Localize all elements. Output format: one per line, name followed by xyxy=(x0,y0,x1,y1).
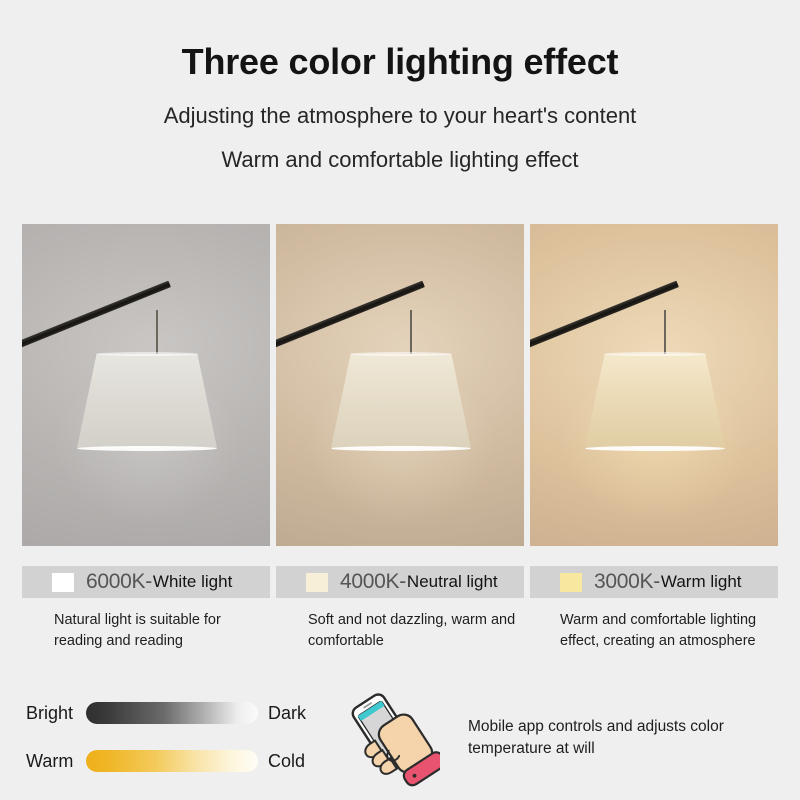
mode-caption: Warm and comfortable lighting effect, cr… xyxy=(530,610,778,651)
lighting-mode-card: 6000K- White light Natural light is suit… xyxy=(22,224,270,651)
lamp-rod xyxy=(664,310,666,358)
color-swatch xyxy=(306,573,328,592)
color-swatch xyxy=(52,573,74,592)
lamp-shade-top-rim xyxy=(604,352,706,356)
lamp-arm xyxy=(530,281,679,351)
temperature-left-label: Warm xyxy=(26,751,86,772)
lamp-shade xyxy=(585,354,725,448)
color-temperature-label-bar: 3000K- Warm light xyxy=(530,566,778,598)
lamp-shade-top-rim xyxy=(350,352,452,356)
lighting-mode-card: 3000K- Warm light Warm and comfortable l… xyxy=(530,224,778,651)
mode-caption: Natural light is suitable for reading an… xyxy=(22,610,270,651)
color-swatch xyxy=(560,573,582,592)
light-kind-label: Neutral light xyxy=(407,572,498,592)
page-subtitle-primary: Adjusting the atmosphere to your heart's… xyxy=(0,104,800,128)
mode-caption: Soft and not dazzling, warm and comforta… xyxy=(276,610,524,651)
lighting-mode-card: 4000K- Neutral light Soft and not dazzli… xyxy=(276,224,524,651)
lamp-shade xyxy=(77,354,217,448)
brightness-right-label: Dark xyxy=(268,703,306,724)
brightness-and-temperature-scales: Bright Dark Warm Cold xyxy=(26,700,316,796)
brightness-scale-row: Bright Dark xyxy=(26,700,316,726)
page-title: Three color lighting effect xyxy=(0,42,800,82)
color-temperature-label-bar: 4000K- Neutral light xyxy=(276,566,524,598)
lamp-arm xyxy=(22,281,171,351)
kelvin-value: 3000K- xyxy=(594,570,660,594)
kelvin-value: 6000K- xyxy=(86,570,152,594)
color-temperature-label-bar: 6000K- White light xyxy=(22,566,270,598)
mobile-app-note-text: Mobile app controls and adjusts color te… xyxy=(468,716,748,761)
lamp-arm xyxy=(276,281,425,351)
lamp-photo-neutral xyxy=(276,224,524,546)
lamp-photo-cool-white xyxy=(22,224,270,546)
lamp-rod xyxy=(156,310,158,358)
brightness-left-label: Bright xyxy=(26,703,86,724)
lighting-mode-cards: 6000K- White light Natural light is suit… xyxy=(22,224,778,651)
mobile-app-note: Mobile app controls and adjusts color te… xyxy=(340,688,780,788)
page-header: Three color lighting effect Adjusting th… xyxy=(0,0,800,172)
lamp-shade xyxy=(331,354,471,448)
lamp-shade-top-rim xyxy=(96,352,198,356)
temperature-gradient-bar[interactable] xyxy=(86,750,258,772)
temperature-right-label: Cold xyxy=(268,751,305,772)
lamp-shade-bottom-rim xyxy=(77,446,217,451)
temperature-scale-row: Warm Cold xyxy=(26,748,316,774)
brightness-gradient-bar[interactable] xyxy=(86,702,258,724)
lamp-shade-bottom-rim xyxy=(585,446,725,451)
hand-holding-phone-icon xyxy=(340,688,440,788)
light-kind-label: White light xyxy=(153,572,232,592)
light-kind-label: Warm light xyxy=(661,572,742,592)
lamp-shade-bottom-rim xyxy=(331,446,471,451)
lamp-rod xyxy=(410,310,412,358)
lamp-photo-warm xyxy=(530,224,778,546)
kelvin-value: 4000K- xyxy=(340,570,406,594)
page-subtitle-secondary: Warm and comfortable lighting effect xyxy=(0,148,800,172)
